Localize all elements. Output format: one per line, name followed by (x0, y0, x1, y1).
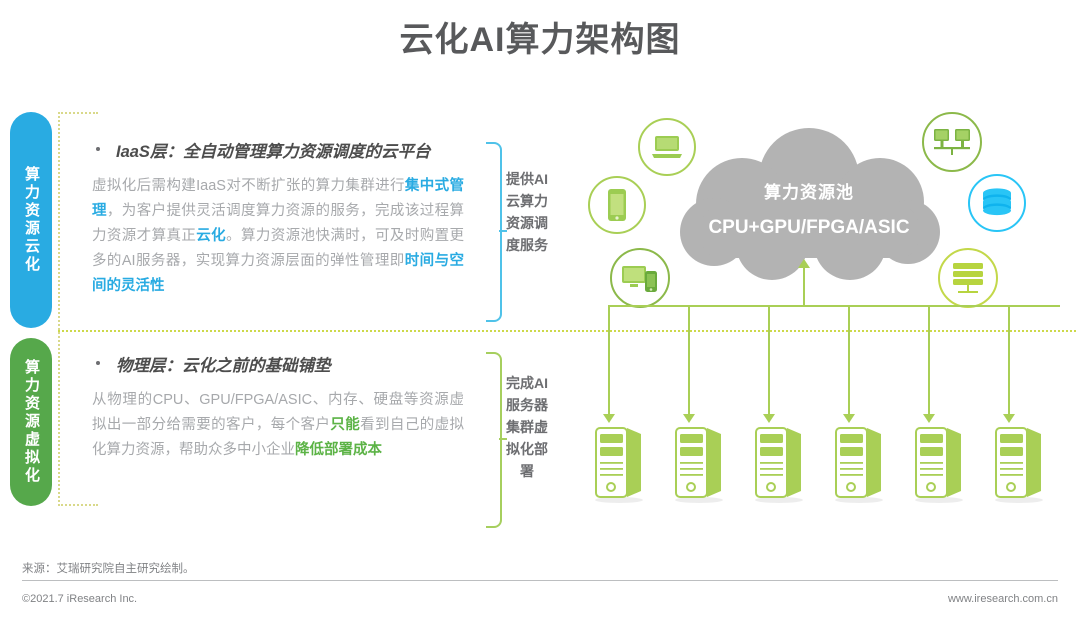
caption-lower: 完成AI服务器集群虚拟化部署 (504, 372, 550, 482)
laptop-icon (638, 118, 696, 176)
iaas-layer-block: IaaS层：全自动管理算力资源调度的云平台 虚拟化后需构建IaaS对不断扩张的算… (92, 138, 464, 299)
text-segment-0: 虚拟化后需构建IaaS对不断扩张的算力集群进行 (92, 178, 405, 194)
bracket-lower (486, 352, 500, 524)
server-drop-arrow (1003, 414, 1015, 423)
iaas-heading: IaaS层：全自动管理算力资源调度的云平台 (92, 138, 464, 162)
text-segment-3: 云化 (196, 228, 226, 244)
physical-body: 从物理的CPU、GPU/FPGA/ASIC、内存、硬盘等资源虚拟出一部分给需要的… (92, 388, 464, 463)
server-tower (994, 425, 1044, 503)
sidebar-item-cloudification[interactable]: 算力资源云化 (10, 112, 52, 328)
server-drop-arrow (683, 414, 695, 423)
network-monitors-icon (922, 112, 982, 172)
server-tower (594, 425, 644, 503)
smartphone-icon (588, 176, 646, 234)
server-drop-line (848, 305, 850, 415)
iaas-body: 虚拟化后需构建IaaS对不断扩张的算力集群进行集中式管理，为客户提供灵活调度算力… (92, 174, 464, 299)
cloud-subtitle: CPU+GPU/FPGA/ASIC (708, 217, 909, 239)
cloud-labels: 算力资源池 CPU+GPU/FPGA/ASIC (672, 122, 946, 294)
server-drop-line (1008, 305, 1010, 415)
layer-divider-dotted (58, 330, 1076, 332)
sidebar-item-virtualization[interactable]: 算力资源虚拟化 (10, 338, 52, 506)
server-drop-arrow (603, 414, 615, 423)
server-bus-line (608, 305, 1060, 307)
desktop-mobile-icon (610, 248, 670, 308)
physical-layer-block: 物理层：云化之前的基础铺垫 从物理的CPU、GPU/FPGA/ASIC、内存、硬… (92, 352, 464, 463)
physical-heading: 物理层：云化之前的基础铺垫 (92, 352, 464, 376)
server-drop-line (608, 305, 610, 415)
sidebar-item-label: 算力资源云化 (21, 166, 41, 274)
server-tower (674, 425, 724, 503)
server-drop-line (768, 305, 770, 415)
caption-upper: 提供AI云算力资源调度服务 (504, 168, 550, 256)
server-drop-arrow (843, 414, 855, 423)
dotted-frame-top (58, 112, 98, 114)
bracket-upper (486, 142, 500, 318)
uplink-arrow (798, 259, 810, 268)
uplink-line (803, 268, 805, 307)
text-segment-3: 降低部署成本 (295, 442, 382, 458)
server-tower (754, 425, 804, 503)
text-segment-1: 只能 (330, 417, 360, 433)
server-drop-arrow (923, 414, 935, 423)
server-tower (914, 425, 964, 503)
copyright: ©2021.7 iResearch Inc. (22, 593, 137, 605)
cloud-title: 算力资源池 (764, 178, 854, 203)
source-note: 来源：艾瑞研究院自主研究绘制。 (22, 560, 195, 576)
dotted-frame-left (58, 112, 60, 506)
database-icon (968, 174, 1026, 232)
dotted-frame-bottom (58, 504, 98, 506)
server-drop-arrow (763, 414, 775, 423)
website-link[interactable]: www.iresearch.com.cn (948, 593, 1058, 605)
server-drop-line (928, 305, 930, 415)
server-drop-line (688, 305, 690, 415)
server-tower (834, 425, 884, 503)
page-title: 云化AI算力架构图 (0, 12, 1080, 61)
footer-divider (22, 580, 1058, 581)
server-rack-icon (938, 248, 998, 308)
sidebar-item-label: 算力资源虚拟化 (21, 359, 41, 485)
